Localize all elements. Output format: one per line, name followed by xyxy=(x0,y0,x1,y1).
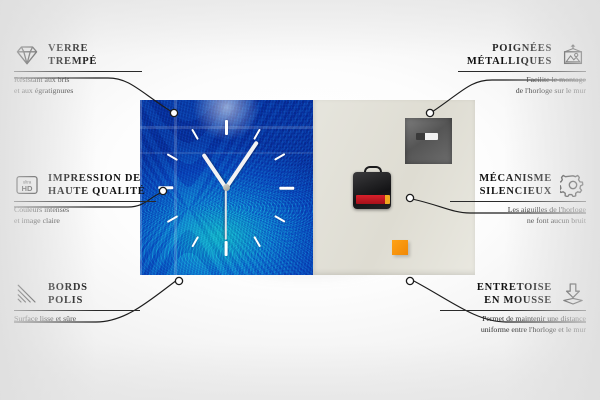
callout-title: BORDS xyxy=(48,281,88,294)
callout-verre-trempe[interactable]: VERRE TREMPÉ Résistant aux bris et aux é… xyxy=(14,42,142,97)
callout-title-line2: SILENCIEUX xyxy=(479,185,552,198)
hands-center-cap xyxy=(223,184,230,191)
hour-marker xyxy=(158,187,173,190)
second-hand xyxy=(225,188,227,240)
callout-title-line2: HAUTE QUALITÉ xyxy=(48,185,146,198)
callout-subtitle-line2: ne font aucun bruit xyxy=(450,216,586,227)
callout-mecanisme-silencieux[interactable]: MÉCANISME SILENCIEUX Les aiguilles de l'… xyxy=(450,172,586,227)
callout-title-line2: TREMPÉ xyxy=(48,55,97,68)
clock-front-face xyxy=(140,100,313,275)
infographic-canvas: VERRE TREMPÉ Résistant aux bris et aux é… xyxy=(0,0,600,400)
battery xyxy=(356,195,385,204)
callout-subtitle-line2: et image claire xyxy=(14,216,156,227)
callout-subtitle: Couleurs intenses xyxy=(14,205,156,216)
callout-subtitle: Facilite le montage xyxy=(458,75,586,86)
callout-title: ENTRETOISE xyxy=(477,281,552,294)
product-image xyxy=(140,100,475,275)
divider xyxy=(458,71,586,72)
callout-title: IMPRESSION DE xyxy=(48,172,146,185)
callout-subtitle-line2: uniforme entre l'horloge et le mur xyxy=(440,325,586,336)
polished-edge-icon xyxy=(14,282,40,306)
divider xyxy=(14,71,142,72)
callout-entretoise-en-mousse[interactable]: ENTRETOISE EN MOUSSE Permet de maintenir… xyxy=(440,281,586,336)
diamond-icon xyxy=(14,43,40,67)
divider xyxy=(440,310,586,311)
callout-title-line2: MÉTALLIQUES xyxy=(467,55,552,68)
callout-title: VERRE xyxy=(48,42,97,55)
callout-subtitle: Les aiguilles de l'horloge xyxy=(450,205,586,216)
callout-subtitle: Résistant aux bris xyxy=(14,75,142,86)
divider xyxy=(14,310,140,311)
hour-marker xyxy=(225,120,228,135)
callout-subtitle: Permet de maintenir une distance xyxy=(440,314,586,325)
callout-subtitle-line2: de l'horloge sur le mur xyxy=(458,86,586,97)
callout-title-line2: POLIS xyxy=(48,294,88,307)
callout-impression-haute-qualite[interactable]: ultra HD IMPRESSION DE HAUTE QUALITÉ Cou… xyxy=(14,172,156,227)
callout-subtitle: Surface lisse et sûre xyxy=(14,314,140,325)
battery-terminal xyxy=(385,195,390,204)
hour-marker xyxy=(279,187,294,190)
divider xyxy=(14,201,156,202)
callout-subtitle-line2: et aux égratignures xyxy=(14,86,142,97)
picture-hanger-icon xyxy=(560,43,586,67)
foam-spacer xyxy=(392,240,408,255)
callout-title-line2: EN MOUSSE xyxy=(477,294,552,307)
gear-icon xyxy=(560,173,586,197)
callout-poignees-metalliques[interactable]: POIGNÉES MÉTALLIQUES Facilite le montage… xyxy=(458,42,586,97)
hanger-keyhole-icon xyxy=(416,133,438,140)
divider xyxy=(450,201,586,202)
down-arrow-plate-icon xyxy=(560,282,586,306)
ultra-hd-icon: ultra HD xyxy=(14,173,40,197)
hour-marker xyxy=(225,241,228,256)
metal-hanger-plate xyxy=(405,118,452,164)
callout-title: MÉCANISME xyxy=(479,172,552,185)
svg-text:HD: HD xyxy=(22,184,33,193)
callout-bords-polis[interactable]: BORDS POLIS Surface lisse et sûre xyxy=(14,281,140,325)
callout-title: POIGNÉES xyxy=(467,42,552,55)
